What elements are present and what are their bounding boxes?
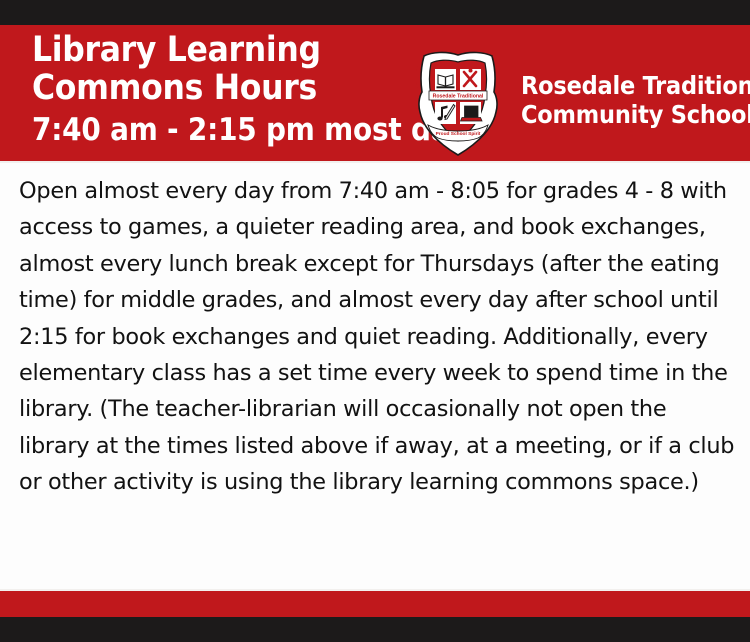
open-book-icon [437, 75, 455, 88]
crest-ribbon-text: Proud School Spirit [436, 131, 481, 137]
school-name-line-1: Rosedale Traditional [521, 71, 746, 100]
top-dark-bar [0, 0, 750, 25]
crest-svg: Rosedale Traditional Proud School Sp [402, 49, 514, 161]
bottom-dark-bar [0, 617, 750, 642]
header-title-group: Library Learning Commons Hours [32, 31, 422, 107]
crest-banner-text: Rosedale Traditional [433, 94, 484, 100]
school-name-line-2: Community School [521, 100, 746, 129]
school-crest-logo: Rosedale Traditional Proud School Sp [402, 49, 514, 161]
header-band: Library Learning Commons Hours 7:40 am -… [0, 25, 750, 163]
library-hours-poster: Library Learning Commons Hours 7:40 am -… [0, 0, 750, 642]
school-name-group: Rosedale Traditional Community School [521, 71, 746, 129]
page-title-line-1: Library Learning [32, 31, 422, 69]
body-area: Open almost every day from 7:40 am - 8:0… [0, 163, 750, 588]
bottom-red-bar [0, 589, 750, 617]
page-title-line-2: Commons Hours [32, 69, 422, 107]
hours-description-paragraph: Open almost every day from 7:40 am - 8:0… [19, 173, 741, 501]
